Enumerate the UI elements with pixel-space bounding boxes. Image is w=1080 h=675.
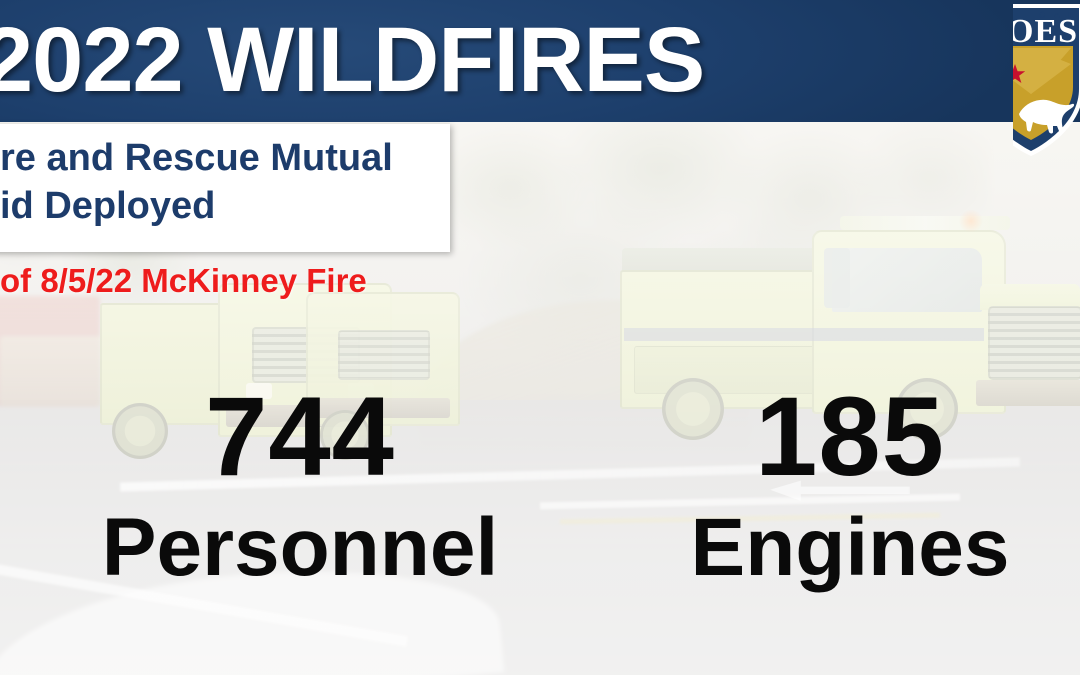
subhead: of 8/5/22 McKinney Fire xyxy=(0,261,470,301)
subhead-text: of 8/5/22 McKinney Fire xyxy=(0,262,367,299)
stat-engines: 185 Engines xyxy=(620,378,1080,594)
stat-personnel: 744 Personnel xyxy=(60,378,540,594)
logo-oes-text: OES xyxy=(1013,13,1078,50)
stat-engines-label: Engines xyxy=(620,502,1080,594)
shield-icon: C A L OES xyxy=(1013,2,1080,160)
header-band: 2022 WILDFIRES xyxy=(0,0,1080,122)
stat-personnel-label: Personnel xyxy=(60,502,540,594)
callout-line-2: id Deployed xyxy=(0,182,215,230)
stat-personnel-value: 744 xyxy=(60,378,540,496)
callout-line-1: re and Rescue Mutual xyxy=(0,134,393,182)
callout-box: re and Rescue Mutual id Deployed xyxy=(0,124,450,252)
stat-engines-value: 185 xyxy=(620,378,1080,496)
infographic-banner: 2022 WILDFIRES xyxy=(0,0,1080,675)
cal-oes-shield-logo: C A L OES xyxy=(1013,2,1080,160)
page-title: 2022 WILDFIRES xyxy=(0,4,704,116)
